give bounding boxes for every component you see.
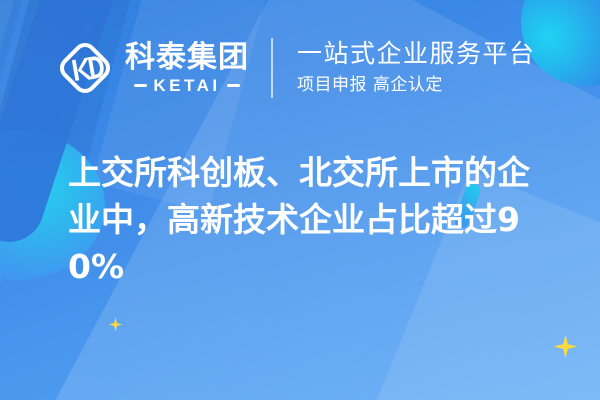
- tagline-secondary: 项目申报 高企认定: [297, 75, 536, 96]
- brand-lockup[interactable]: 科泰集团 KETAI: [56, 39, 249, 97]
- sparkle-star-icon-small: [109, 318, 122, 331]
- logo-rule-left: [134, 84, 147, 87]
- tagline-block: 一站式企业服务平台 项目申报 高企认定: [297, 39, 536, 96]
- promo-banner: 科泰集团 KETAI 一站式企业服务平台 项目申报 高企认定 上交所科创板、北交…: [0, 0, 600, 400]
- tagline-primary: 一站式企业服务平台: [297, 39, 536, 69]
- header-vertical-divider: [271, 38, 273, 98]
- headline-text: 上交所科创板、北交所上市的企业中，高新技术企业占比超过90%: [68, 150, 538, 291]
- logo-rule-right: [227, 84, 240, 87]
- banner-header: 科泰集团 KETAI 一站式企业服务平台 项目申报 高企认定: [0, 0, 600, 136]
- logo-company-name-latin: KETAI: [153, 77, 220, 94]
- logo-company-name-cn: 科泰集团: [125, 42, 249, 74]
- sparkle-star-icon-large: [554, 335, 577, 358]
- kd-diamond-monogram-icon: [56, 39, 114, 97]
- logo-latin-row: KETAI: [125, 77, 249, 94]
- logo-wordmark: 科泰集团 KETAI: [125, 42, 249, 94]
